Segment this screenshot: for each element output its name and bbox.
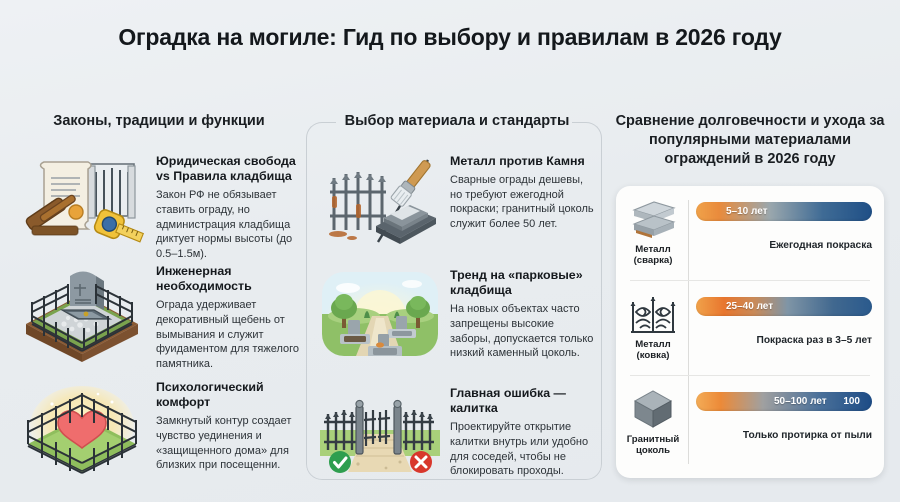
chart-row: Металл (сварка) 5–10 лет Ежегодная покра…: [616, 190, 884, 284]
chart-row-category: Металл (сварка): [624, 196, 682, 267]
rusty-fence-vs-granite-brush-icon: [320, 152, 440, 248]
chart-bar-group: 50–100 лет 100 Только протирка от пыли: [696, 392, 872, 442]
column-heading-middle: Выбор материала и стандарты: [312, 112, 602, 131]
park-cemetery-icon: [320, 266, 440, 362]
list-item: Инженерная необходимость Ограда удержива…: [18, 262, 300, 371]
list-item-body: Сварные ограды дешевы, но требуют ежегод…: [450, 173, 596, 232]
granite-cube-icon: [624, 386, 682, 432]
heart-in-fence-icon: [18, 378, 146, 478]
chart-bar-group: 5–10 лет Ежегодная покраска: [696, 202, 872, 252]
column-durability-comparison: Сравнение долговечности и ухода за попул…: [612, 112, 888, 169]
grave-plot-fence-icon: [18, 262, 146, 362]
column-material-standards: Выбор материала и стандарты: [312, 112, 602, 131]
list-item-heading: Главная ошибка — калитка: [450, 386, 596, 416]
list-item: Психологический комфорт Замкнутый контур…: [18, 378, 300, 478]
list-item-body: Проектируйте открытие калитки внутрь или…: [450, 420, 596, 479]
bar-range-label: 5–10 лет: [726, 202, 768, 221]
list-item-heading: Инженерная необходимость: [156, 264, 300, 294]
list-item-body: Замкнутый контур создает чувство уединен…: [156, 414, 300, 473]
list-item-heading: Юридическая свобода vs Правила кладбища: [156, 154, 300, 184]
list-item: Главная ошибка — калитка Проектируйте от…: [320, 384, 596, 479]
chart-row-category: Гранитный цоколь: [624, 386, 682, 457]
category-label: Металл (ковка): [624, 339, 682, 362]
gate-swing-direction-icon: [320, 384, 440, 476]
bar-range-label: 50–100 лет: [774, 392, 827, 411]
gavel-document-gate-tape-icon: [18, 152, 146, 244]
cross-badge: [410, 451, 432, 473]
maintenance-note: Только протирка от пыли: [696, 429, 872, 442]
category-label: Металл (сварка): [624, 244, 682, 267]
maintenance-note: Покраска раз в 3–5 лет: [696, 334, 872, 347]
maintenance-note: Ежегодная покраска: [696, 239, 872, 252]
durability-bar: 25–40 лет: [696, 297, 872, 316]
list-item-heading: Металл против Камня: [450, 154, 596, 169]
column-heading-left: Законы, традиции и функции: [18, 112, 300, 131]
durability-chart-card: Металл (сварка) 5–10 лет Ежегодная покра…: [616, 186, 884, 478]
list-item-heading: Психологический комфорт: [156, 380, 300, 410]
durability-bar: 50–100 лет 100: [696, 392, 872, 411]
chart-bar-group: 25–40 лет Покраска раз в 3–5 лет: [696, 297, 872, 347]
wrought-iron-fence-icon: [624, 291, 682, 337]
page-title: Оградка на могиле: Гид по выбору и прави…: [0, 24, 900, 51]
chart-row: Металл (ковка) 25–40 лет Покраска раз в …: [616, 285, 884, 379]
chart-row-category: Металл (ковка): [624, 291, 682, 362]
bar-value-label: 100: [843, 392, 860, 411]
column-heading-right: Сравнение долговечности и ухода за попул…: [612, 112, 888, 169]
bar-range-label: 25–40 лет: [726, 297, 773, 316]
chart-row: Гранитный цоколь 50–100 лет 100 Только п…: [616, 380, 884, 474]
list-item: Металл против Камня Сварные ограды дешев…: [320, 152, 596, 248]
list-item: Тренд на «парковые» кладбища На новых об…: [320, 266, 596, 362]
infographic-canvas: Оградка на могиле: Гид по выбору и прави…: [0, 0, 900, 502]
list-item-body: Закон РФ не обязывает ставить ограду, но…: [156, 188, 300, 261]
check-badge: [329, 451, 351, 473]
column-laws-traditions: Законы, традиции и функции: [18, 112, 300, 131]
list-item-heading: Тренд на «парковые» кладбища: [450, 268, 596, 298]
list-item-body: Ограда удерживает декоративный щебень от…: [156, 298, 300, 371]
list-item-body: На новых объектах часто запрещены высоки…: [450, 302, 596, 361]
list-item: Юридическая свобода vs Правила кладбища …: [18, 152, 300, 261]
category-label: Гранитный цоколь: [624, 434, 682, 457]
i-beam-icon: [624, 196, 682, 242]
durability-bar: 5–10 лет: [696, 202, 872, 221]
